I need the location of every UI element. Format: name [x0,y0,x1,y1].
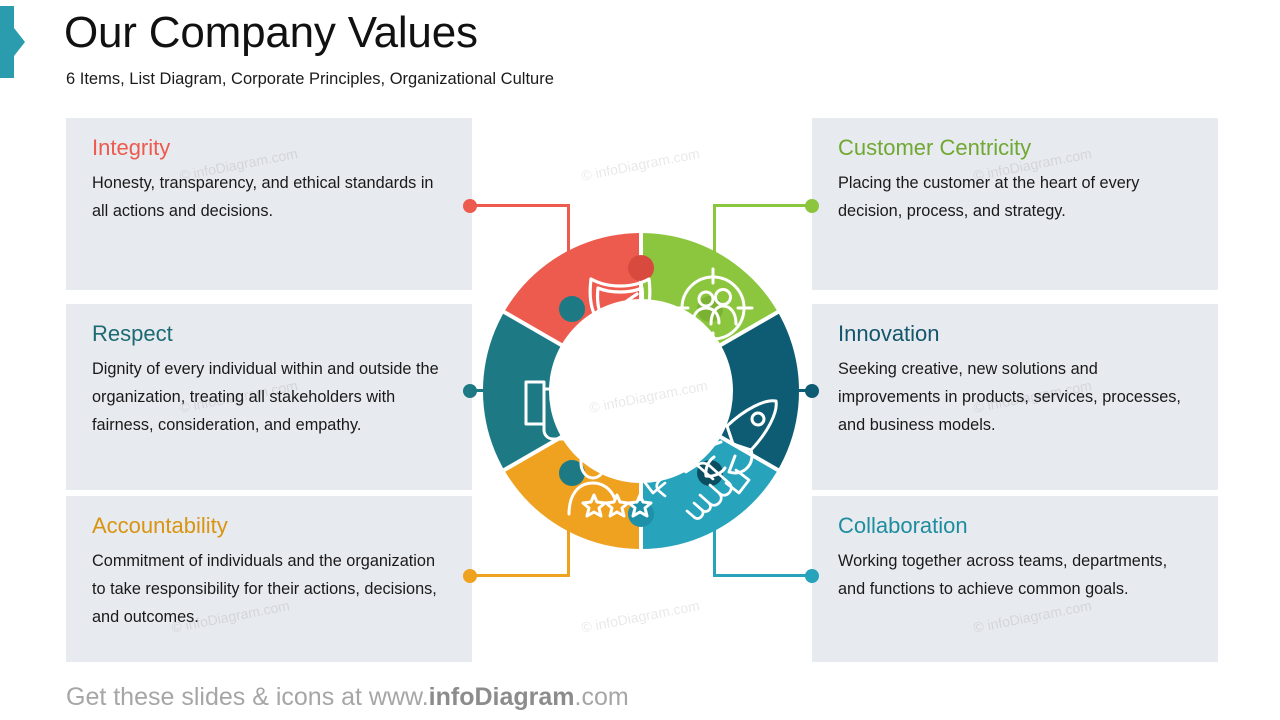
title-accent-bar [0,6,14,78]
value-title-customer-centricity: Customer Centricity [838,136,1196,160]
value-card-collaboration[interactable]: Collaboration Working together across te… [812,496,1218,662]
value-description-customer-centricity: Placing the customer at the heart of eve… [838,169,1196,225]
value-card-accountability[interactable]: Accountability Commitment of individuals… [66,496,472,662]
value-title-collaboration: Collaboration [838,514,1196,538]
puzzle-donut-diagram [481,231,801,551]
value-title-accountability: Accountability [92,514,450,538]
value-title-innovation: Innovation [838,322,1196,346]
footer-brand: infoDiagram [429,683,575,711]
value-description-respect: Dignity of every individual within and o… [92,355,450,439]
value-description-integrity: Honesty, transparency, and ethical stand… [92,169,450,225]
connector-dot-customer-centricity [805,199,819,213]
value-title-integrity: Integrity [92,136,450,160]
connector-dot-innovation [805,384,819,398]
value-card-respect[interactable]: Respect Dignity of every individual with… [66,304,472,490]
value-card-customer-centricity[interactable]: Customer Centricity Placing the customer… [812,118,1218,290]
value-card-innovation[interactable]: Innovation Seeking creative, new solutio… [812,304,1218,490]
value-description-collaboration: Working together across teams, departmen… [838,547,1196,603]
footer-suffix: .com [575,683,629,711]
value-description-accountability: Commitment of individuals and the organi… [92,547,450,631]
connector-dot-collaboration [805,569,819,583]
page-subtitle: 6 Items, List Diagram, Corporate Princip… [66,70,554,89]
watermark: © infoDiagram.com [580,597,701,636]
connector-dot-accountability [463,569,477,583]
footer-prefix: Get these slides & icons at www. [66,683,429,711]
connector-dot-integrity [463,199,477,213]
connector-dot-respect [463,384,477,398]
value-title-respect: Respect [92,322,450,346]
value-card-integrity[interactable]: Integrity Honesty, transparency, and eth… [66,118,472,290]
watermark: © infoDiagram.com [580,145,701,184]
value-description-innovation: Seeking creative, new solutions and impr… [838,355,1196,439]
page-title: Our Company Values [64,8,478,59]
footer-promo: Get these slides & icons at www.infoDiag… [66,683,629,712]
